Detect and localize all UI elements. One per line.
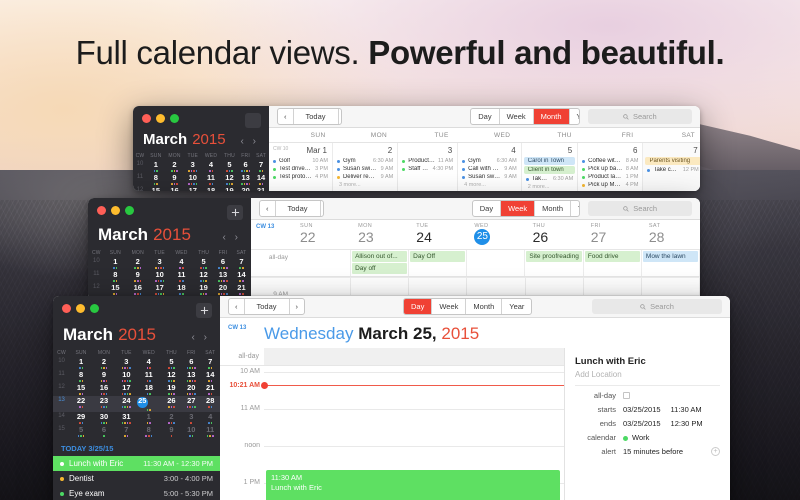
today-button[interactable]: Today <box>245 299 290 314</box>
today-agenda-list[interactable]: Lunch with Eric11:30 AM - 12:30 PMDentis… <box>53 456 220 500</box>
next-button[interactable]: › <box>290 299 305 314</box>
inspector-field-value[interactable]: 15 minutes before <box>623 447 683 456</box>
mini-calendar-day[interactable]: 1 <box>137 412 161 425</box>
event-dot <box>158 280 160 282</box>
month-search-placeholder: Search <box>633 112 657 121</box>
mini-calendar-day[interactable]: 4 <box>201 160 221 173</box>
mini-calendar-day[interactable]: 20 <box>182 383 200 396</box>
month-day-cell[interactable]: CW 10Mar 1Golf10 AMTest drive T...3 PMTe… <box>269 143 333 191</box>
week-allday-cell[interactable]: Site proofreading <box>525 250 584 276</box>
month-day-number[interactable]: 2 <box>333 145 397 157</box>
mini-calendar-header-wed: WED <box>201 151 221 160</box>
mini-calendar-day-number: 15 <box>147 187 165 191</box>
mini-calendar-day[interactable]: 13 <box>182 370 200 383</box>
mini-calendar-day[interactable]: 19 <box>193 283 214 296</box>
month-day-number[interactable]: 6 <box>578 145 642 157</box>
mini-calendar-table[interactable]: CWSUNMONTUEWEDTHUFRISAT10123456711891011… <box>133 151 269 191</box>
month-event[interactable]: Take out...6:30 AM <box>522 175 577 183</box>
mini-calendar-day[interactable]: 6 <box>238 160 253 173</box>
month-day-cell[interactable]: 2Gym6:30 AMSusan swim...9 AMDeliver repo… <box>333 143 398 191</box>
event-dot <box>106 380 108 382</box>
agenda-item[interactable]: Eye exam5:00 - 5:30 PM <box>53 486 220 500</box>
agenda-calendar-dot <box>60 477 64 481</box>
mini-calendar-day[interactable]: 21 <box>232 283 251 296</box>
mini-calendar-day[interactable]: 4 <box>200 412 220 425</box>
zoom-button-icon[interactable] <box>90 304 99 313</box>
mini-calendar-day[interactable]: 4 <box>137 357 161 370</box>
view-tab-year[interactable]: Year <box>571 201 580 216</box>
mini-calendar-day[interactable]: 14 <box>200 370 220 383</box>
week-day-headers[interactable]: CW 13SUN22MON23TUE24WED25THU26FRI27SAT28 <box>251 220 700 250</box>
event-dot <box>218 293 220 295</box>
mini-calendar-day[interactable]: 5 <box>70 425 92 438</box>
event-dot <box>116 280 118 282</box>
month-allday-event[interactable]: Carol in Town <box>524 157 575 165</box>
event-calendar-dot <box>582 176 585 179</box>
mini-calendar-day[interactable]: 19 <box>161 383 182 396</box>
mini-calendar-day[interactable]: 13 <box>238 173 253 186</box>
close-button-icon[interactable] <box>142 114 151 123</box>
event-time: 9 AM <box>381 174 394 180</box>
mini-calendar-day[interactable]: 2 <box>92 357 116 370</box>
event-dot <box>188 183 190 185</box>
mini-calendar-day[interactable]: 26 <box>161 396 182 412</box>
mini-calendar-header-sat: SAT <box>200 348 220 357</box>
month-date-nav[interactable]: ‹ Today › <box>277 108 342 125</box>
month-allday-event[interactable]: Client in town <box>524 166 575 174</box>
mini-calendar-day[interactable]: 4 <box>170 257 193 270</box>
mini-calendar-day[interactable]: 18 <box>170 283 193 296</box>
week-allday-event[interactable]: Day Off <box>410 251 465 262</box>
mini-calendar-day[interactable]: 15 <box>70 383 92 396</box>
mini-calendar-day[interactable]: 16 <box>126 283 149 296</box>
add-event-button[interactable] <box>227 205 243 220</box>
mini-calendar-day[interactable]: 14 <box>232 270 251 283</box>
event-dot <box>168 393 170 395</box>
event-title: Golf <box>279 158 290 164</box>
agenda-item[interactable]: Lunch with Eric11:30 AM - 12:30 PM <box>53 456 220 471</box>
minimize-button-icon[interactable] <box>156 114 165 123</box>
event-time: 4:30 PM <box>433 166 453 172</box>
mini-calendar-day[interactable]: 3 <box>116 357 137 370</box>
week-allday-cell[interactable]: Food drive <box>584 250 642 276</box>
month-day-number[interactable]: 4 <box>458 145 521 157</box>
event-dot <box>226 267 228 269</box>
event-dot <box>101 393 103 395</box>
mini-calendar-day-number: 11 <box>170 271 193 279</box>
mini-calendar-header-sat: SAT <box>253 151 269 160</box>
agenda-item[interactable]: Dentist3:00 - 4:00 PM <box>53 471 220 486</box>
event-dot <box>211 422 213 424</box>
mini-calendar-day[interactable]: 10 <box>184 173 201 186</box>
agenda-calendar-dot <box>60 462 64 466</box>
mini-calendar-day[interactable]: 30 <box>92 412 116 425</box>
event-dot <box>187 367 189 369</box>
inspector-field-value-time[interactable]: 11:30 AM <box>671 405 702 414</box>
mini-calendar-day[interactable]: 7 <box>253 160 269 173</box>
inspector-field-value-time[interactable]: 12:30 PM <box>671 419 703 428</box>
month-search-field[interactable]: Search <box>588 109 692 124</box>
next-button[interactable]: › <box>339 109 343 124</box>
mini-calendar-day[interactable]: 9 <box>126 270 149 283</box>
mini-calendar-week-row: 101234567 <box>133 160 269 173</box>
mini-calendar-day[interactable]: 17 <box>116 383 137 396</box>
month-event[interactable]: Test drive T...3 PM <box>269 165 332 173</box>
mini-calendar-day[interactable]: 2 <box>165 160 185 173</box>
month-day-cell[interactable]: 3Production...11 AMStaff me...4:30 PM <box>398 143 458 191</box>
mini-calendar-day-number: 5 <box>221 161 238 169</box>
mini-calendar-day[interactable]: 11 <box>137 370 161 383</box>
mini-calendar-day[interactable]: 17 <box>149 283 169 296</box>
event-dot <box>140 280 142 282</box>
mini-calendar-day[interactable]: 15 <box>147 186 165 191</box>
mini-calendar-week-row: 11891011121314 <box>133 173 269 186</box>
event-title: Lunch with Eric <box>271 483 555 493</box>
mini-calendar-day[interactable]: 7 <box>116 425 137 438</box>
mini-calendar-day[interactable]: 8 <box>147 173 165 186</box>
event-dot <box>156 170 158 172</box>
mini-calendar-day[interactable]: 20 <box>238 186 253 191</box>
mini-calendar-day[interactable]: 8 <box>137 425 161 438</box>
mini-calendar-week-row: 101234567 <box>53 357 220 370</box>
event-dot <box>194 393 196 395</box>
event-dot <box>194 380 196 382</box>
mini-calendar-event-dots <box>200 435 220 438</box>
mini-calendar-day[interactable]: 1 <box>147 160 165 173</box>
week-allday-cell[interactable]: Mow the lawn <box>642 250 700 276</box>
prev-button[interactable]: ‹ <box>260 201 276 216</box>
week-day-name: WED <box>474 223 525 229</box>
mini-calendar-day[interactable]: 11 <box>200 425 220 438</box>
view-tab-year[interactable]: Year <box>570 109 580 124</box>
mini-calendar-day-number: 9 <box>165 174 185 182</box>
mini-calendar-day[interactable]: 1 <box>105 257 126 270</box>
month-event[interactable]: Susan swim...9 AM <box>333 165 397 173</box>
month-day-headers: SUNMONTUEWEDTHUFRISAT <box>269 128 700 143</box>
mini-calendar-nav[interactable]: ‹ › <box>241 136 259 147</box>
all-day-checkbox[interactable] <box>623 392 630 399</box>
prev-button[interactable]: ‹ <box>229 299 245 314</box>
mini-calendar-day[interactable]: 14 <box>253 173 269 186</box>
mini-calendar-day[interactable]: 15 <box>105 283 126 296</box>
month-day-number[interactable]: 7 <box>643 145 700 157</box>
mini-calendar-day[interactable]: 12 <box>221 173 238 186</box>
month-event[interactable]: Gym6:30 AM <box>458 157 521 165</box>
mini-calendar-day[interactable]: 18 <box>137 383 161 396</box>
month-more-events-link[interactable]: 3 more... <box>333 181 397 189</box>
add-event-button[interactable]: plus-icon <box>245 113 261 128</box>
mini-calendar-nav[interactable]: ‹ › <box>223 232 241 243</box>
week-date-nav[interactable]: ‹ Today › <box>259 200 324 217</box>
month-event[interactable]: Coffee with...8 AM <box>578 157 642 165</box>
week-day-header[interactable]: THU26 <box>526 220 584 249</box>
view-tab-month[interactable]: Month <box>535 201 571 216</box>
event-dot <box>187 406 189 408</box>
mini-calendar-day-number: 8 <box>70 371 92 379</box>
month-event[interactable]: Product lau...1 PM <box>578 173 642 181</box>
month-day-cell[interactable]: 4Gym6:30 AMCall with m...9 AMSusan swim.… <box>458 143 522 191</box>
mini-calendar-day[interactable]: 12 <box>193 270 214 283</box>
mini-calendar-day-number: 18 <box>170 284 193 292</box>
inspector-field-value[interactable]: 03/25/2015 <box>623 405 661 414</box>
mini-calendar-nav[interactable]: ‹ › <box>192 332 210 343</box>
event-title: Coffee with... <box>588 158 623 164</box>
mini-calendar-day[interactable]: 3 <box>149 257 169 270</box>
mini-calendar-header-cw: CW <box>133 151 147 160</box>
calendar-window-week[interactable]: March 2015 ‹ › CWSUNMONTUEWEDTHUFRISAT10… <box>88 198 700 300</box>
event-dot <box>249 170 251 172</box>
event-dot <box>171 435 173 437</box>
mini-calendar-day[interactable]: 3 <box>182 412 200 425</box>
month-event[interactable]: Deliver reports9 AM <box>333 173 397 181</box>
event-dot <box>171 380 173 382</box>
event-dot <box>140 293 142 295</box>
add-alert-button[interactable]: + <box>711 447 720 456</box>
minimize-button-icon[interactable] <box>76 304 85 313</box>
event-dot <box>137 293 139 295</box>
month-event[interactable]: Test prototype4 PM <box>269 173 332 181</box>
week-allday-event[interactable]: Mow the lawn <box>643 251 698 262</box>
week-day-header[interactable]: MON23 <box>351 220 409 249</box>
event-dot <box>207 435 209 437</box>
week-allday-event[interactable]: Allison out of... <box>352 251 407 262</box>
week-allday-cell[interactable] <box>293 250 351 276</box>
close-button-icon[interactable] <box>97 206 106 215</box>
minimize-button-icon[interactable] <box>111 206 120 215</box>
event-dot <box>124 422 126 424</box>
day-event-lunch[interactable]: 11:30 AMLunch with Eric <box>266 470 560 500</box>
event-dot <box>208 380 210 382</box>
mini-calendar-day[interactable]: 6 <box>214 257 232 270</box>
view-tab-day[interactable]: Day <box>471 109 499 124</box>
mini-calendar-day[interactable]: 5 <box>161 357 182 370</box>
mini-calendar-day[interactable]: 16 <box>92 383 116 396</box>
week-allday-row[interactable]: all-day Allison out of...Day offDay OffS… <box>251 250 700 277</box>
mini-calendar-day-number: 10 <box>184 174 201 182</box>
event-dot <box>212 435 214 437</box>
mini-calendar-day[interactable]: 8 <box>70 370 92 383</box>
event-dot <box>149 409 151 411</box>
mini-calendar-week-row: 1215161718192021 <box>88 283 251 296</box>
mini-calendar-day-number: 6 <box>92 426 116 434</box>
mini-calendar-day[interactable]: 10 <box>149 270 169 283</box>
mini-calendar-day[interactable]: 21 <box>200 383 220 396</box>
event-dot <box>200 293 202 295</box>
view-tab-year[interactable]: Year <box>502 299 531 314</box>
calendar-window-month[interactable]: plus-icon March 2015 ‹ › CWSUNMONTUEWEDT… <box>133 106 700 191</box>
week-allday-cell[interactable]: Day Off <box>409 250 467 276</box>
month-event[interactable]: Take car in...12 PM <box>643 166 700 174</box>
prev-button[interactable]: ‹ <box>278 109 294 124</box>
view-tab-month[interactable]: Month <box>466 299 502 314</box>
mini-calendar-day[interactable]: 7 <box>232 257 251 270</box>
month-header-mon: MON <box>331 128 393 142</box>
event-dot <box>192 406 194 408</box>
event-dot <box>106 406 108 408</box>
mini-calendar-day-number: 5 <box>161 358 182 366</box>
event-dot <box>246 183 248 185</box>
week-allday-cell[interactable]: Allison out of...Day off <box>351 250 409 276</box>
week-allday-event[interactable]: Food drive <box>585 251 640 262</box>
mini-calendar-day[interactable]: 24 <box>116 396 137 412</box>
mini-calendar-day-number: 18 <box>201 187 221 191</box>
event-time: 6:30 AM <box>497 158 517 164</box>
mini-calendar-day[interactable]: 19 <box>221 186 238 191</box>
mini-calendar-day[interactable]: 6 <box>92 425 116 438</box>
week-day-header[interactable]: WED25 <box>467 220 525 249</box>
view-tab-week[interactable]: Week <box>501 201 535 216</box>
mini-calendar-day[interactable]: 25 <box>137 396 161 412</box>
event-dot <box>226 183 228 185</box>
mini-calendar-day[interactable]: 20 <box>214 283 232 296</box>
search-icon <box>623 114 629 120</box>
add-event-button[interactable] <box>196 303 212 318</box>
event-title: Gym <box>468 158 481 164</box>
event-dot <box>163 267 165 269</box>
event-dot <box>173 406 175 408</box>
mini-calendar-day[interactable]: 18 <box>201 186 221 191</box>
week-search-field[interactable]: Search <box>588 201 692 216</box>
mini-calendar-day[interactable]: 27 <box>182 396 200 412</box>
day-view-switcher[interactable]: DayWeekMonthYear <box>403 298 532 315</box>
mini-calendar-day[interactable]: 10 <box>182 425 200 438</box>
event-dot <box>147 422 149 424</box>
mini-calendar-day[interactable]: 23 <box>92 396 116 412</box>
mini-calendar-day[interactable]: 9 <box>165 173 185 186</box>
mini-calendar-header-sun: SUN <box>147 151 165 160</box>
mini-calendar-day[interactable]: 2 <box>126 257 149 270</box>
mini-calendar-day[interactable]: 11 <box>201 173 221 186</box>
mini-calendar-day[interactable]: 21 <box>253 186 269 191</box>
mini-calendar-day[interactable]: 17 <box>184 186 201 191</box>
mini-calendar-day[interactable]: 9 <box>92 370 116 383</box>
month-event[interactable]: Pick up bagels8 AM <box>578 165 642 173</box>
mini-calendar-day[interactable]: 8 <box>105 270 126 283</box>
event-inspector[interactable]: Lunch with Eric Add Location all-daystar… <box>565 348 730 500</box>
mini-calendar-table[interactable]: CWSUNMONTUEWEDTHUFRISAT10123456711891011… <box>88 248 251 300</box>
event-dot <box>82 367 84 369</box>
month-grid[interactable]: CW 10Mar 1Golf10 AMTest drive T...3 PMTe… <box>269 143 700 191</box>
mini-calendar-table[interactable]: CWSUNMONTUEWEDTHUFRISAT10123456711891011… <box>53 348 220 438</box>
mini-calendar-day[interactable]: 28 <box>200 396 220 412</box>
week-window-content: ‹ Today › DayWeekMonthYear Search CW 13S… <box>251 198 700 300</box>
mini-calendar-header-wed: WED <box>137 348 161 357</box>
event-dot <box>182 293 184 295</box>
event-calendar-dot <box>273 176 276 179</box>
mini-calendar-day[interactable]: 31 <box>116 412 137 425</box>
event-dot <box>223 280 225 282</box>
month-event[interactable]: Golf10 AM <box>269 157 332 165</box>
event-dot <box>193 183 195 185</box>
inspector-event-title[interactable]: Lunch with Eric <box>575 356 720 367</box>
mini-calendar-day[interactable]: 5 <box>221 160 238 173</box>
mini-calendar-day[interactable]: 9 <box>161 425 182 438</box>
close-button-icon[interactable] <box>62 304 71 313</box>
event-calendar-dot <box>402 160 405 163</box>
mini-calendar-header-thu: THU <box>193 248 214 257</box>
month-day-number[interactable]: 5 <box>522 145 577 157</box>
mini-calendar-day[interactable]: 7 <box>200 357 220 370</box>
mini-calendar-day[interactable]: 10 <box>116 370 137 383</box>
week-view-switcher[interactable]: DayWeekMonthYear <box>472 200 581 217</box>
week-allday-cell[interactable] <box>467 250 525 276</box>
month-event[interactable]: Susan swim...9 AM <box>458 173 521 181</box>
month-day-cell[interactable]: 7Parents visitingTake car in...12 PM <box>643 143 700 191</box>
week-day-header[interactable]: FRI27 <box>584 220 642 249</box>
view-tab-month[interactable]: Month <box>534 109 570 124</box>
event-dot <box>262 170 264 172</box>
today-button[interactable]: Today <box>276 201 321 216</box>
mini-calendar-day[interactable]: 13 <box>214 270 232 283</box>
inspector-field-value[interactable]: 03/25/2015 <box>623 419 661 428</box>
calendar-window-day[interactable]: March 2015 ‹ › CWSUNMONTUEWEDTHUFRISAT10… <box>53 296 730 500</box>
mini-calendar-day[interactable]: 22 <box>70 396 92 412</box>
view-tab-week[interactable]: Week <box>432 299 466 314</box>
month-event[interactable]: Staff me...4:30 PM <box>398 165 457 173</box>
mini-calendar-event-dots <box>182 435 200 438</box>
week-day-header[interactable]: SAT28 <box>642 220 700 249</box>
month-event[interactable]: Gym6:30 AM <box>333 157 397 165</box>
day-allday-row[interactable]: all-day <box>220 348 564 366</box>
month-day-cell[interactable]: 5Carol in TownClient in townTake out...6… <box>522 143 578 191</box>
month-more-events-link[interactable]: 4 more... <box>458 181 521 189</box>
day-search-field[interactable]: Search <box>592 299 722 314</box>
mini-calendar-day[interactable]: 11 <box>170 270 193 283</box>
event-dot <box>239 280 241 282</box>
month-view-switcher[interactable]: DayWeekMonthYear <box>470 108 579 125</box>
event-title: Carol in Town <box>528 158 564 164</box>
month-event[interactable]: Production...11 AM <box>398 157 457 165</box>
mini-calendar-event-dots <box>92 406 116 409</box>
week-day-header[interactable]: SUN22 <box>293 220 351 249</box>
mini-calendar-day[interactable]: 6 <box>182 357 200 370</box>
month-more-events-link[interactable]: 2 more... <box>522 183 577 191</box>
mini-calendar-day[interactable]: 29 <box>70 412 92 425</box>
month-event[interactable]: Pick up Mat...4 PM <box>578 181 642 189</box>
week-allday-event[interactable]: Day off <box>352 263 407 274</box>
mini-calendar-day-number: 16 <box>126 284 149 292</box>
mini-calendar-day[interactable]: 2 <box>161 412 182 425</box>
view-tab-day[interactable]: Day <box>473 201 501 216</box>
day-time-grid[interactable]: all-day 10 AM11 AMnoon1 PM2 PM10:21 AM11… <box>220 348 565 500</box>
mini-calendar-day[interactable]: 12 <box>161 370 182 383</box>
view-tab-day[interactable]: Day <box>404 299 432 314</box>
week-allday-event[interactable]: Site proofreading <box>526 251 582 262</box>
month-allday-event[interactable]: Parents visiting <box>645 157 700 165</box>
month-day-number[interactable]: 3 <box>398 145 457 157</box>
mini-calendar-day[interactable]: 5 <box>193 257 214 270</box>
month-day-cell[interactable]: 6Coffee with...8 AMPick up bagels8 AMPro… <box>578 143 643 191</box>
week-day-header[interactable]: TUE24 <box>409 220 467 249</box>
inspector-field-value[interactable]: Work <box>623 433 649 442</box>
event-dot <box>211 393 213 395</box>
mini-calendar-day[interactable]: 1 <box>70 357 92 370</box>
today-button[interactable]: Today <box>294 109 339 124</box>
day-allday-slot[interactable] <box>264 348 564 365</box>
event-title: Client in town <box>528 167 564 173</box>
zoom-button-icon[interactable] <box>125 206 134 215</box>
day-date-nav[interactable]: ‹ Today › <box>228 298 305 315</box>
inspector-location-field[interactable]: Add Location <box>575 370 720 386</box>
event-calendar-dot <box>273 168 276 171</box>
mini-calendar-day[interactable]: 16 <box>165 186 185 191</box>
view-tab-week[interactable]: Week <box>500 109 534 124</box>
next-button[interactable]: › <box>321 201 324 216</box>
zoom-button-icon[interactable] <box>170 114 179 123</box>
month-event[interactable]: Call with m...9 AM <box>458 165 521 173</box>
window-traffic-lights[interactable] <box>53 296 220 313</box>
mini-calendar-day[interactable]: 3 <box>184 160 201 173</box>
